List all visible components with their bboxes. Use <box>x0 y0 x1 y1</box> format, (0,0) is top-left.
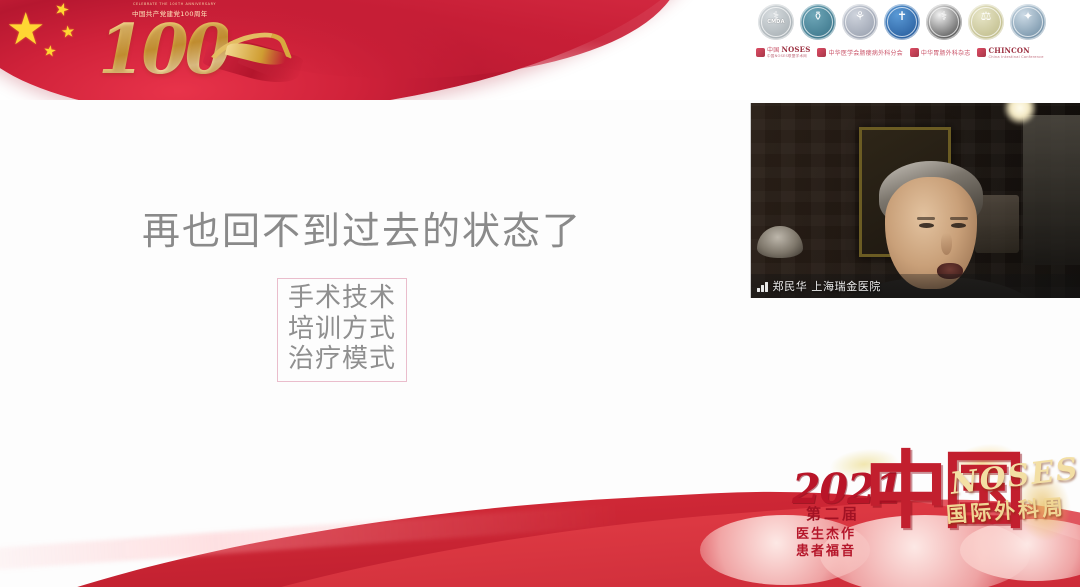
speaker-face <box>885 177 977 289</box>
webinar-stage: ★ ★ ★ ★ 100 CELEBRATE THE 100TH ANNIVERS… <box>0 0 1080 587</box>
speaker-eyebrow-right <box>950 217 968 220</box>
video-window-right <box>1023 115 1080 265</box>
sponsor-circle-logo-row: ⚕CMDA⚱⚘✝⚕⚖✦ <box>758 4 1046 40</box>
sponsor-circle-logo-3: ⚘ <box>842 4 878 40</box>
banner-subtitle-latin: CELEBRATE THE 100TH ANNIVERSARY <box>133 2 216 6</box>
text-logo-mark <box>817 48 826 57</box>
slide-heading: 再也回不到过去的状态了 <box>142 200 582 255</box>
logo-emblem-glyph: ⚱ <box>813 10 823 22</box>
sponsor-text-logo-row: 中国 NOSES中国NOSES联盟学术网中华医学会肠瘘病外科分会 中华胃肠外科杂… <box>756 45 1044 59</box>
anniversary-emblem: 100 <box>98 14 278 86</box>
speaker-eyebrow-left <box>917 217 935 220</box>
boxed-list-item-1: 手术技术 <box>288 283 396 314</box>
text-logo-cn: 中华胃肠外科杂志 <box>921 50 971 57</box>
speaker-eye-right <box>951 223 966 228</box>
boxed-list-item-3: 治疗模式 <box>288 344 396 375</box>
speaker-eye-left <box>919 223 934 228</box>
sponsor-text-logo-3: 中华胃肠外科杂志 <box>910 48 971 57</box>
sponsor-circle-logo-6: ⚖ <box>968 4 1004 40</box>
text-logo-cn: 中国 <box>767 47 782 54</box>
sponsor-circle-logo-7: ✦ <box>1010 4 1046 40</box>
text-logo-labels: CHINCONChina Intestinal Conference <box>988 46 1043 59</box>
text-logo-mark <box>977 48 986 57</box>
video-name-overlay: 郑民华 上海瑞金医院 <box>751 274 1080 298</box>
speaker-video-panel[interactable]: 郑民华 上海瑞金医院 <box>750 103 1080 298</box>
sponsor-circle-logo-1: ⚕CMDA <box>758 4 794 40</box>
conference-logo: 2021 第二届 医生杰作 患者福音 中国 NOSES 国际外科周 <box>768 437 1074 569</box>
speaker-nose <box>941 233 952 255</box>
china-flag-star-2: ★ <box>60 23 76 40</box>
emblem-number: 100 <box>98 10 228 90</box>
sponsor-text-logo-1: 中国 NOSES中国NOSES联盟学术网 <box>756 45 810 59</box>
logo-abbreviation: CMDA <box>767 19 784 25</box>
sponsor-text-logo-4: CHINCONChina Intestinal Conference <box>977 46 1043 59</box>
anniversary-banner: ★ ★ ★ ★ 100 CELEBRATE THE 100TH ANNIVERS… <box>0 0 760 100</box>
text-logo-subtitle: 中国NOSES联盟学术网 <box>767 54 810 59</box>
sponsor-circle-logo-5: ⚕ <box>926 4 962 40</box>
slide-boxed-list: 手术技术培训方式治疗模式 <box>277 278 407 382</box>
text-logo-labels: 中华医学会肠瘘病外科分会 <box>828 48 902 57</box>
boxed-list-item-2: 培训方式 <box>288 314 396 345</box>
logo-emblem-glyph: ✦ <box>1023 10 1033 22</box>
china-flag-star-large: ★ <box>6 8 45 52</box>
video-speaker-label: 郑民华 上海瑞金医院 <box>773 278 882 294</box>
sponsor-circle-logo-4: ✝ <box>884 4 920 40</box>
text-logo-brand: NOSES <box>782 45 811 54</box>
text-logo-labels: 中国 NOSES中国NOSES联盟学术网 <box>767 45 810 59</box>
logo-emblem-glyph: ⚘ <box>855 10 866 22</box>
conference-edition: 第二届 <box>806 503 860 524</box>
china-flag-star-3: ★ <box>42 43 57 60</box>
signal-bars-icon <box>757 281 768 292</box>
logo-emblem-glyph: ✝ <box>897 10 907 22</box>
sponsor-circle-logo-2: ⚱ <box>800 4 836 40</box>
logo-emblem-glyph: ⚕ <box>941 10 948 22</box>
sponsor-logo-bar: ⚕CMDA⚱⚘✝⚕⚖✦ 中国 NOSES中国NOSES联盟学术网中华医学会肠瘘病… <box>750 0 1080 100</box>
conference-tagline-2: 患者福音 <box>796 540 856 559</box>
banner-title: 中国共产党建党100周年 <box>132 8 208 18</box>
text-logo-brand: CHINCON <box>988 46 1029 55</box>
text-logo-cn: 中华医学会肠瘘病外科分会 <box>828 50 902 57</box>
text-logo-mark <box>756 48 765 57</box>
text-logo-labels: 中华胃肠外科杂志 <box>921 48 971 57</box>
sponsor-text-logo-2: 中华医学会肠瘘病外科分会 <box>817 48 902 57</box>
logo-emblem-glyph: ⚖ <box>981 10 992 22</box>
text-logo-mark <box>910 48 919 57</box>
text-logo-subtitle: China Intestinal Conference <box>988 55 1043 59</box>
